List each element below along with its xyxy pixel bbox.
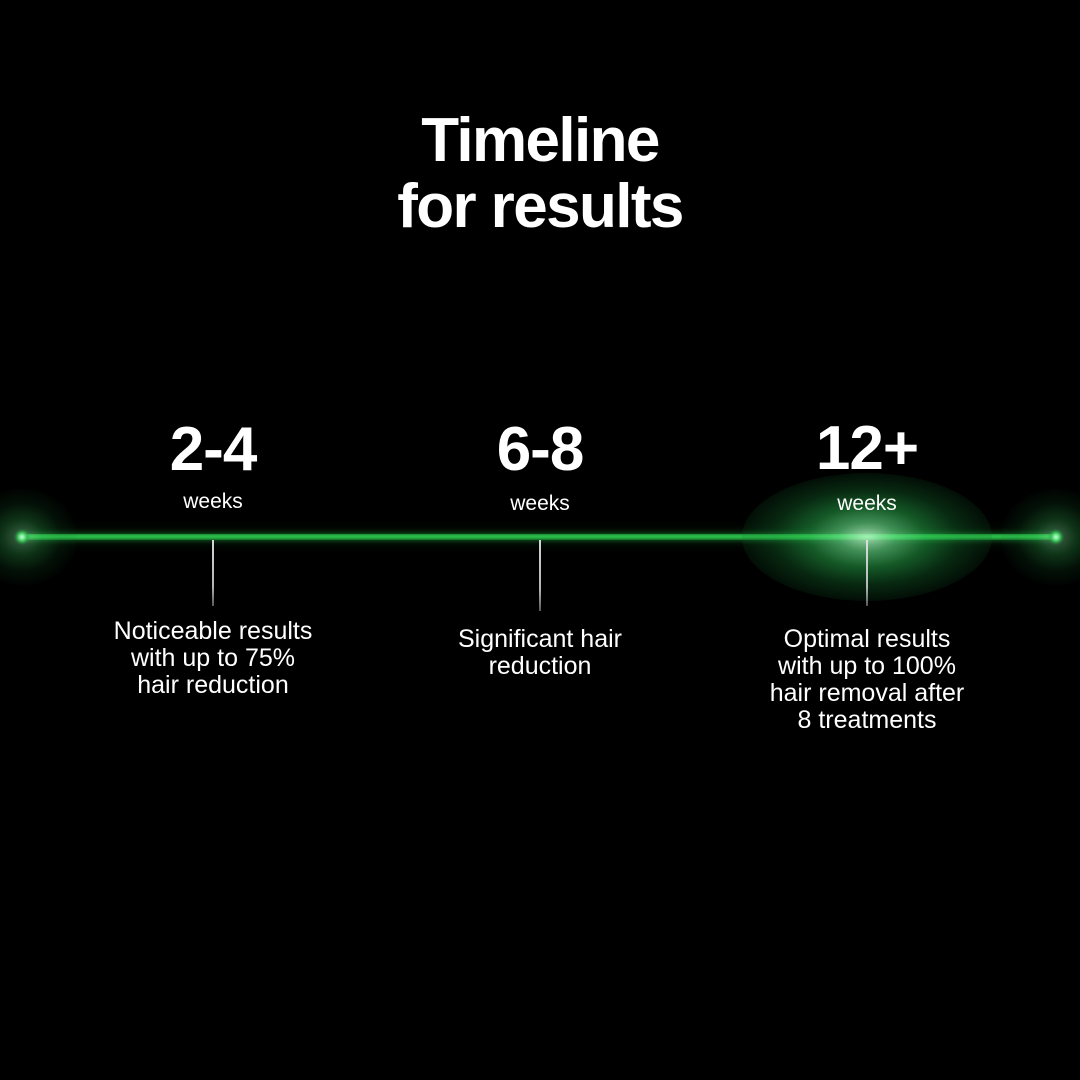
milestone-unit: weeks <box>707 493 1027 514</box>
milestone-description: Optimal results with up to 100% hair rem… <box>707 626 1027 734</box>
title-line-1: Timeline <box>0 108 1080 174</box>
milestone-number: 2-4 <box>53 419 373 481</box>
milestone-description: Significant hair reduction <box>380 626 700 680</box>
milestone-unit: weeks <box>53 491 373 512</box>
milestone-tick <box>539 540 541 611</box>
timeline-right-end-cap <box>1049 530 1063 544</box>
timeline-left-end-cap <box>15 530 29 544</box>
milestone-tick <box>212 540 214 606</box>
page-title: Timeline for results <box>0 108 1080 239</box>
infographic-canvas: Timeline for results 2-4 weeks Noticeabl… <box>0 0 1080 1080</box>
milestone-description: Noticeable results with up to 75% hair r… <box>53 618 373 699</box>
milestone-number: 6-8 <box>380 419 700 481</box>
milestone-number: 12+ <box>707 418 1027 480</box>
milestone-tick <box>866 540 868 606</box>
milestone-unit: weeks <box>380 493 700 514</box>
title-line-2: for results <box>0 174 1080 240</box>
